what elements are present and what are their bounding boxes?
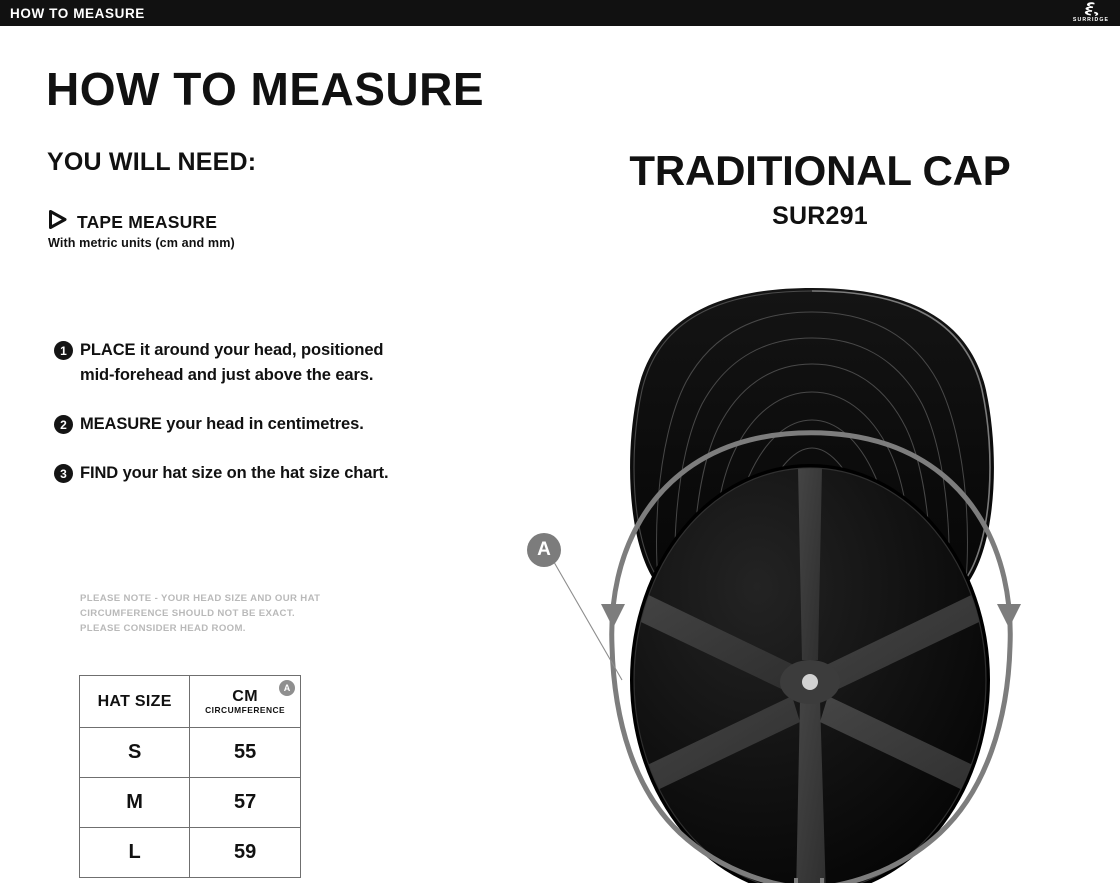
step-number-badge: 1 xyxy=(54,341,73,360)
cell-cm: 59 xyxy=(190,828,301,878)
step-item: 1 PLACE it around your head, positioned … xyxy=(54,338,414,388)
cell-hat-size: M xyxy=(80,778,190,828)
tape-measure-label: TAPE MEASURE xyxy=(77,212,217,233)
product-title: TRADITIONAL CAP xyxy=(560,150,1080,192)
step-text: PLACE it around your head, positioned mi… xyxy=(80,338,414,388)
surridge-s-logo-icon xyxy=(1083,2,1099,17)
step-number-badge: 3 xyxy=(54,464,73,483)
measure-arrow-right xyxy=(997,604,1021,628)
cap-diagram xyxy=(500,250,1120,883)
measure-ref-badge-a: A xyxy=(279,680,295,696)
step-text: FIND your hat size on the hat size chart… xyxy=(80,461,414,486)
product-code: SUR291 xyxy=(560,202,1080,231)
tape-measure-subtitle: With metric units (cm and mm) xyxy=(48,236,235,250)
step-text: MEASURE your head in centimetres. xyxy=(80,412,414,437)
brand-logo: SURRIDGE xyxy=(1070,1,1112,25)
cell-hat-size: L xyxy=(80,828,190,878)
crown-button xyxy=(802,674,818,690)
hat-size-header-label: HAT SIZE xyxy=(80,693,189,711)
top-bar-title: HOW TO MEASURE xyxy=(10,6,145,21)
traditional-cap-top-view-illustration xyxy=(500,250,1120,883)
table-row: S 55 xyxy=(80,728,301,778)
step-item: 3 FIND your hat size on the hat size cha… xyxy=(54,461,414,486)
cell-cm: 57 xyxy=(190,778,301,828)
table-header-cm-circumference: CM CIRCUMFERENCE A xyxy=(190,676,301,728)
table-header-row: HAT SIZE CM CIRCUMFERENCE A xyxy=(80,676,301,728)
page-title: HOW TO MEASURE xyxy=(46,66,484,112)
brand-wordmark: SURRIDGE xyxy=(1073,18,1109,23)
table-header-hat-size: HAT SIZE xyxy=(80,676,190,728)
callout-badge-a: A xyxy=(527,533,561,567)
tape-measure-item: TAPE MEASURE xyxy=(48,210,388,234)
circumference-header-sublabel: CIRCUMFERENCE xyxy=(190,706,300,715)
measure-arrow-left xyxy=(601,604,625,628)
hat-size-table: HAT SIZE CM CIRCUMFERENCE A S 55 M 57 L … xyxy=(79,675,301,878)
disclaimer-note: PLEASE NOTE - YOUR HEAD SIZE AND OUR HAT… xyxy=(80,592,320,637)
table-row: M 57 xyxy=(80,778,301,828)
cell-hat-size: S xyxy=(80,728,190,778)
step-item: 2 MEASURE your head in centimetres. xyxy=(54,412,414,437)
you-will-need-heading: YOU WILL NEED: xyxy=(47,148,256,177)
table-row: L 59 xyxy=(80,828,301,878)
triangle-play-icon xyxy=(48,210,68,234)
top-bar: HOW TO MEASURE SURRIDGE xyxy=(0,0,1120,26)
steps-list: 1 PLACE it around your head, positioned … xyxy=(54,338,414,486)
cell-cm: 55 xyxy=(190,728,301,778)
how-to-measure-page: HOW TO MEASURE SURRIDGE HOW TO MEASURE Y… xyxy=(0,0,1120,883)
step-number-badge: 2 xyxy=(54,415,73,434)
